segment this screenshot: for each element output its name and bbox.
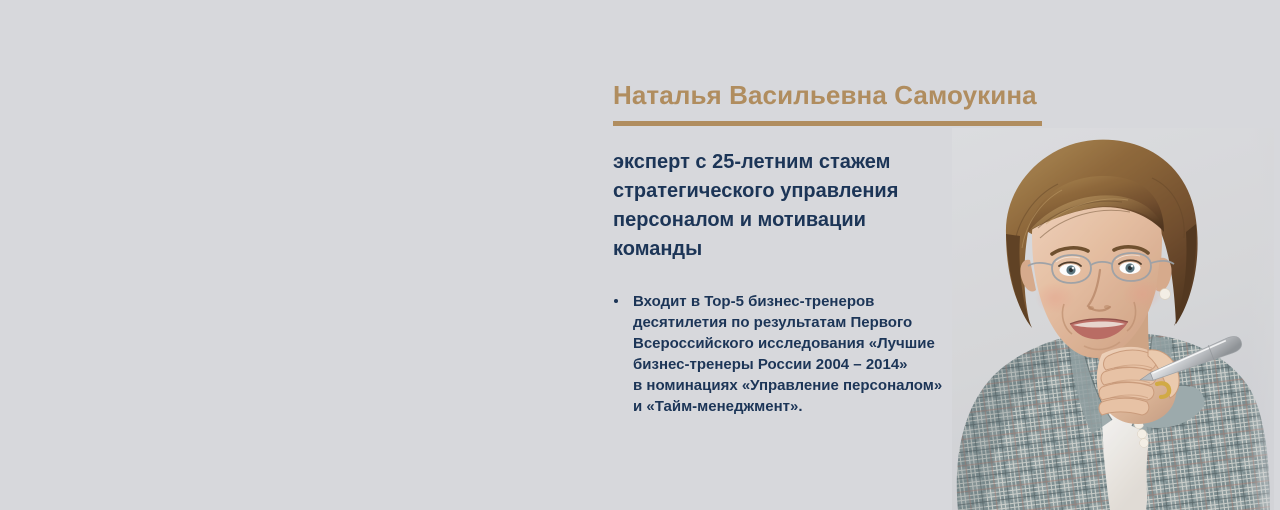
credential-line: десятилетия по результатам Первого	[633, 312, 993, 333]
tagline-line: эксперт с 25-летним стажем	[613, 151, 890, 173]
tagline-line: персоналом и мотивации	[613, 209, 866, 231]
credential-line: в номинациях «Управление персоналом»	[633, 375, 993, 396]
speaker-portrait-photo	[952, 128, 1274, 510]
title-divider-rule	[613, 121, 1042, 126]
credential-line: бизнес-тренеры России 2004 – 2014»	[633, 354, 993, 375]
speaker-banner: Наталья Васильевна Самоукина эксперт с 2…	[0, 0, 1280, 510]
tagline-line: стратегического управления	[613, 180, 898, 202]
list-item: Входит в Top-5 бизнес-тренеров десятилет…	[613, 291, 993, 417]
credential-line: и «Тайм-менеджмент».	[633, 396, 993, 417]
speaker-tagline: эксперт с 25-летним стажем стратегическо…	[613, 148, 943, 264]
tagline-line: команды	[613, 238, 702, 260]
bullet-dot-icon	[614, 299, 618, 303]
credential-line: Входит в Top-5 бизнес-тренеров	[633, 291, 993, 312]
credential-line: Всероссийского исследования «Лучшие	[633, 333, 993, 354]
page-title: Наталья Васильевна Самоукина	[613, 80, 1043, 110]
